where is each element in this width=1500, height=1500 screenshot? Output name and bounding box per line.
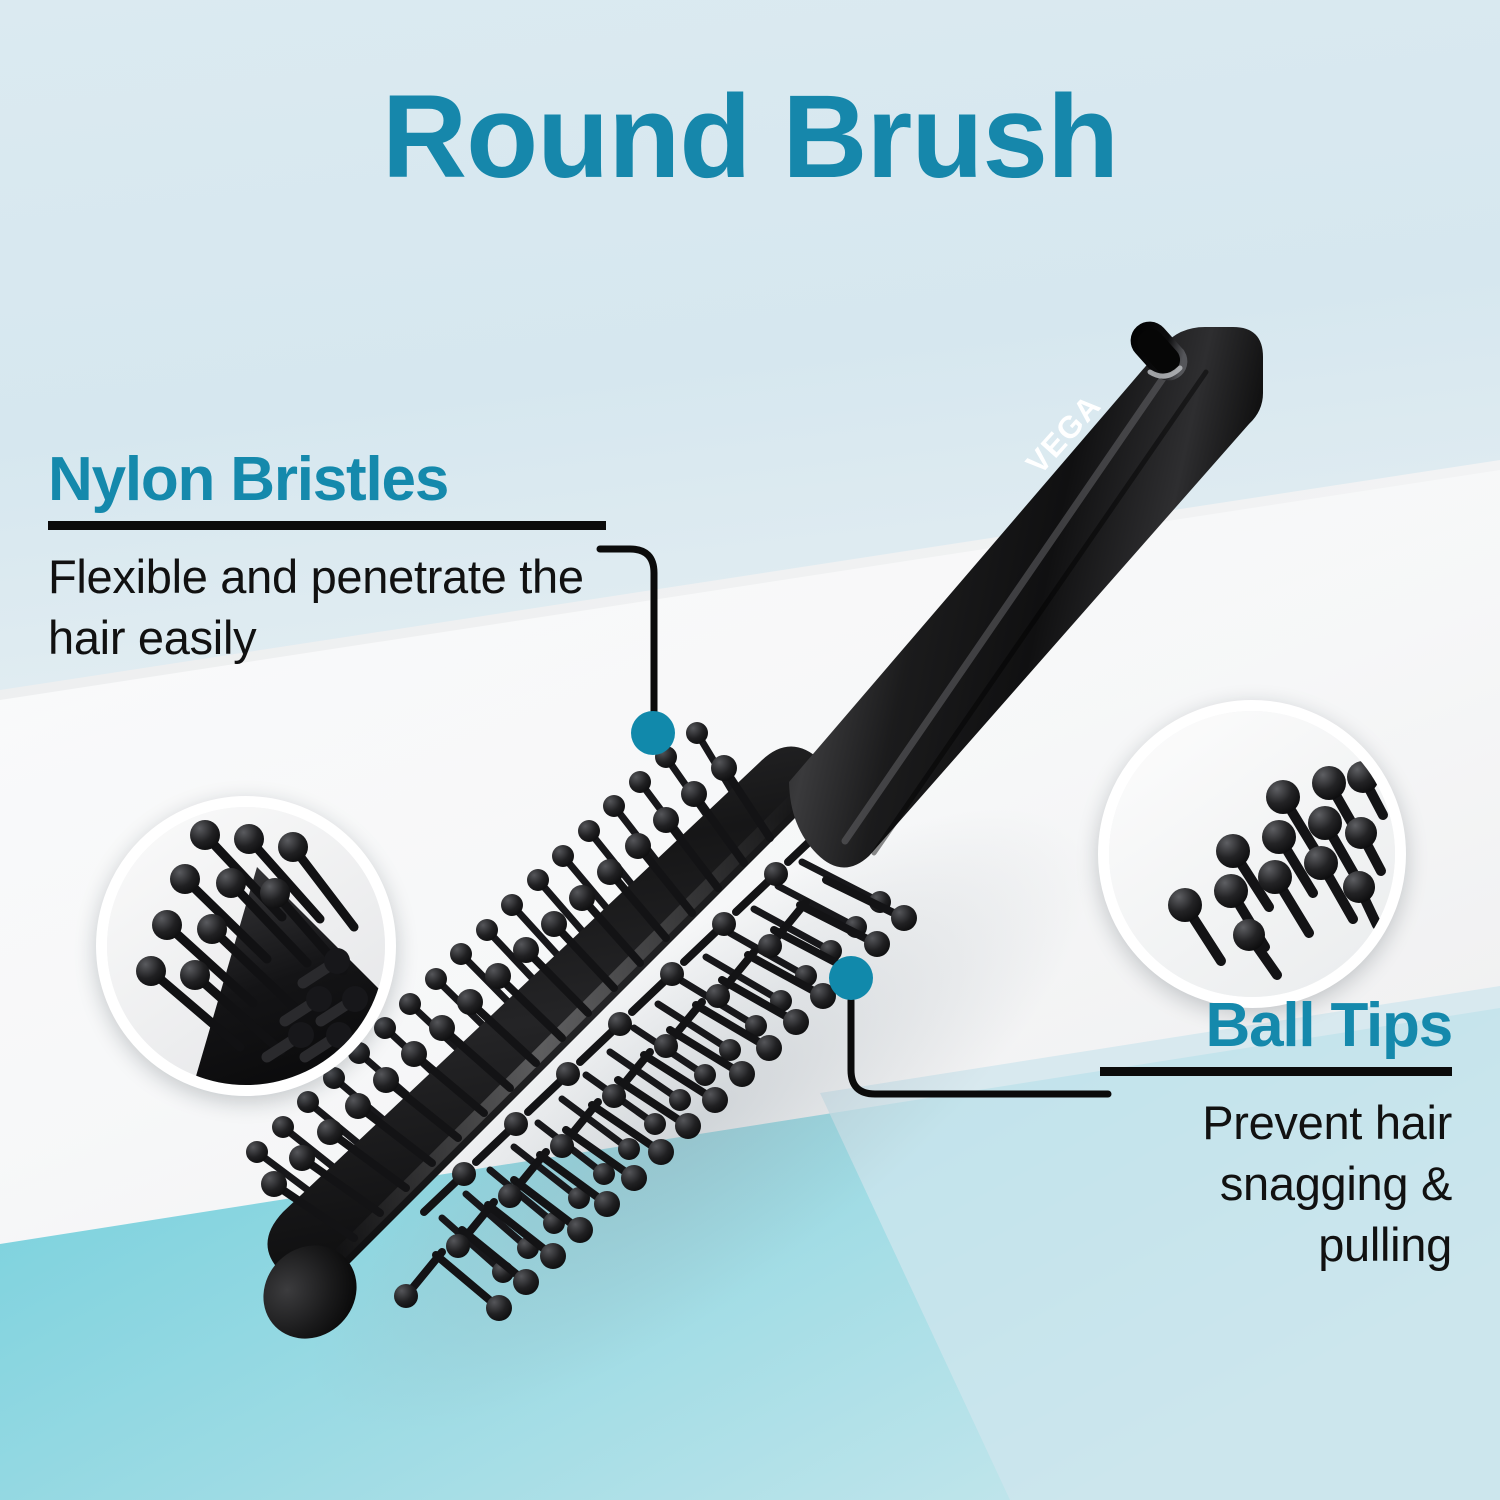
callout-rule-ball-tips <box>1100 1067 1452 1076</box>
callout-heading-nylon-bristles: Nylon Bristles <box>48 448 608 511</box>
callout-nylon-bristles: Nylon Bristles Flexible and penetrate th… <box>48 448 608 668</box>
infographic-canvas: Round Brush <box>0 0 1500 1500</box>
callout-heading-ball-tips: Ball Tips <box>1100 994 1452 1057</box>
zoom-inset-bristle-closeup <box>96 796 396 1096</box>
callout-body-ball-tips: Prevent hair snagging & pulling <box>1100 1092 1452 1275</box>
callout-rule-nylon-bristles <box>48 521 606 530</box>
zoom-inset-balltip-closeup <box>1098 700 1406 1008</box>
callout-body-nylon-bristles: Flexible and penetrate the hair easily <box>48 546 608 668</box>
callout-ball-tips: Ball Tips Prevent hair snagging & pullin… <box>1100 994 1452 1276</box>
